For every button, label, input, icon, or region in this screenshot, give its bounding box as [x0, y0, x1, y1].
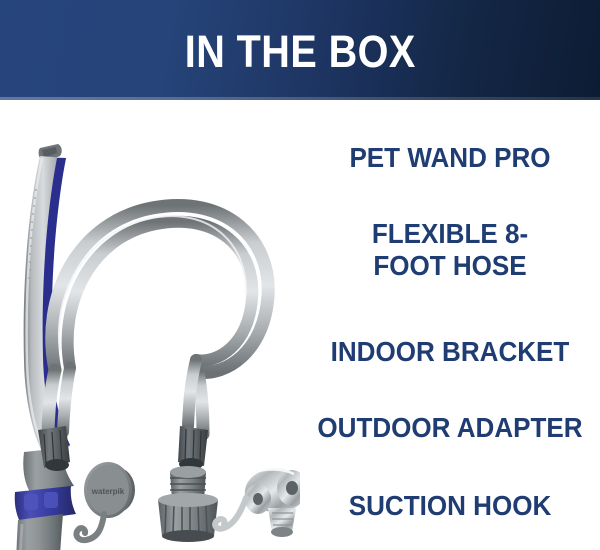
svg-text:waterpik: waterpik	[91, 487, 125, 496]
page-title: IN THE BOX	[184, 29, 415, 74]
item-list: PET WAND PRO FLEXIBLE 8- FOOT HOSE INDOO…	[300, 100, 600, 550]
list-item: OUTDOOR ADAPTER	[311, 412, 590, 444]
list-item: PET WAND PRO	[311, 142, 590, 174]
header-banner: IN THE BOX	[0, 0, 600, 100]
list-item: INDOOR BRACKET	[311, 336, 590, 368]
suction-hook-graphic: waterpik	[76, 462, 135, 540]
outdoor-adapter-graphic	[158, 466, 218, 542]
list-item: SUCTION HOOK	[311, 490, 590, 522]
content-area: waterpik	[0, 100, 600, 550]
product-photo: waterpik	[0, 100, 300, 550]
indoor-bracket-graphic	[215, 468, 300, 537]
flexible-hose-graphic	[48, 205, 268, 438]
list-item: FLEXIBLE 8- FOOT HOSE	[311, 218, 590, 282]
hose-connector-right	[178, 426, 208, 470]
